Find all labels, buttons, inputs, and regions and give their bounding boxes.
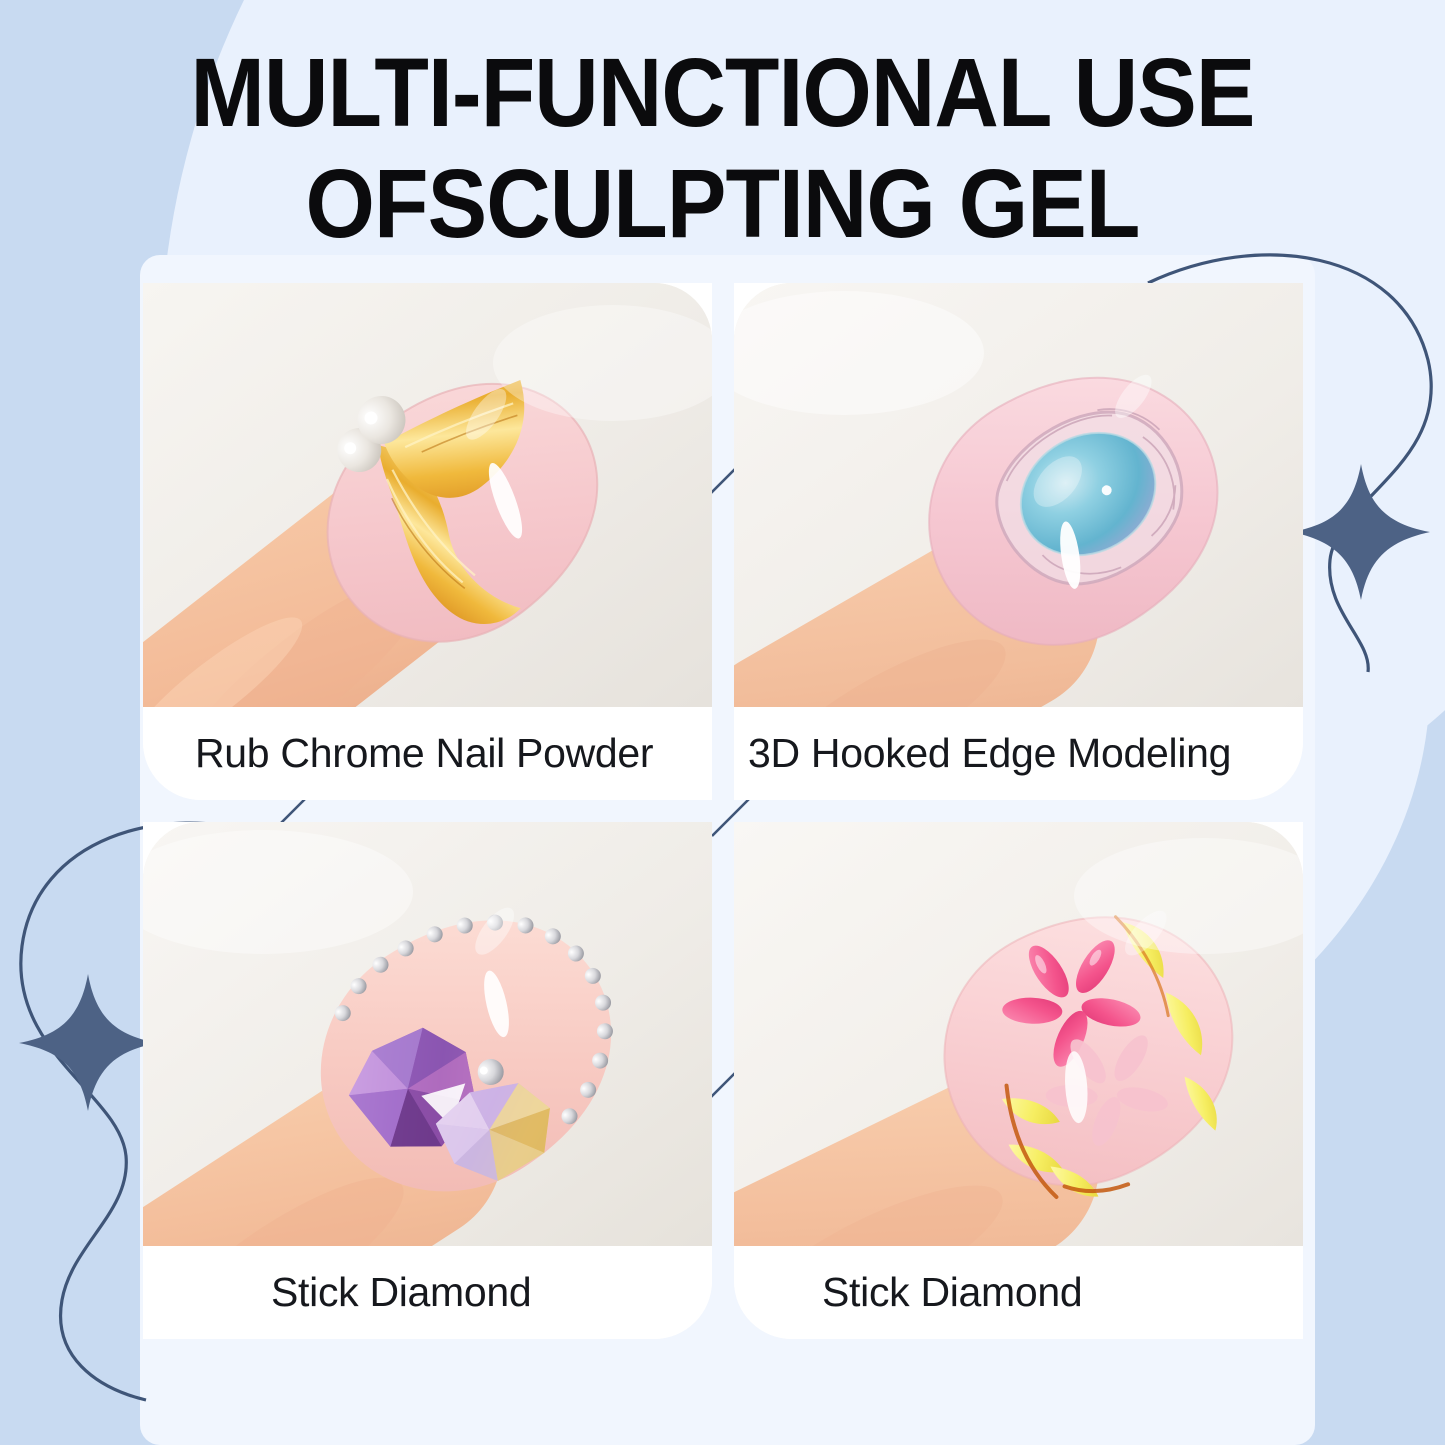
nail-photo-stick-diamond-flowers <box>734 822 1303 1246</box>
title-line-1: MULTI-FUNCTIONAL USE <box>58 44 1387 143</box>
feature-grid: Rub Chrome Nail Powder <box>143 283 1303 1445</box>
nail-photo-rub-chrome <box>143 283 712 707</box>
card-caption-4: Stick Diamond <box>734 1246 1303 1339</box>
nail-photo-stick-diamond-gems <box>143 822 712 1246</box>
feature-card-stick-diamond-flowers[interactable]: Stick Diamond <box>734 822 1303 1339</box>
card-caption-1: Rub Chrome Nail Powder <box>143 707 712 800</box>
feature-card-rub-chrome-nail-powder[interactable]: Rub Chrome Nail Powder <box>143 283 712 800</box>
card-caption-3: Stick Diamond <box>143 1246 712 1339</box>
nail-photo-hooked-edge <box>734 283 1303 707</box>
feature-card-stick-diamond-gems[interactable]: Stick Diamond <box>143 822 712 1339</box>
feature-card-3d-hooked-edge-modeling[interactable]: 3D Hooked Edge Modeling <box>734 283 1303 800</box>
page-title: MULTI-FUNCTIONAL USE OFSCULPTING GEL <box>0 44 1445 254</box>
card-caption-2: 3D Hooked Edge Modeling <box>734 707 1303 800</box>
title-line-2: OFSCULPTING GEL <box>58 155 1387 254</box>
